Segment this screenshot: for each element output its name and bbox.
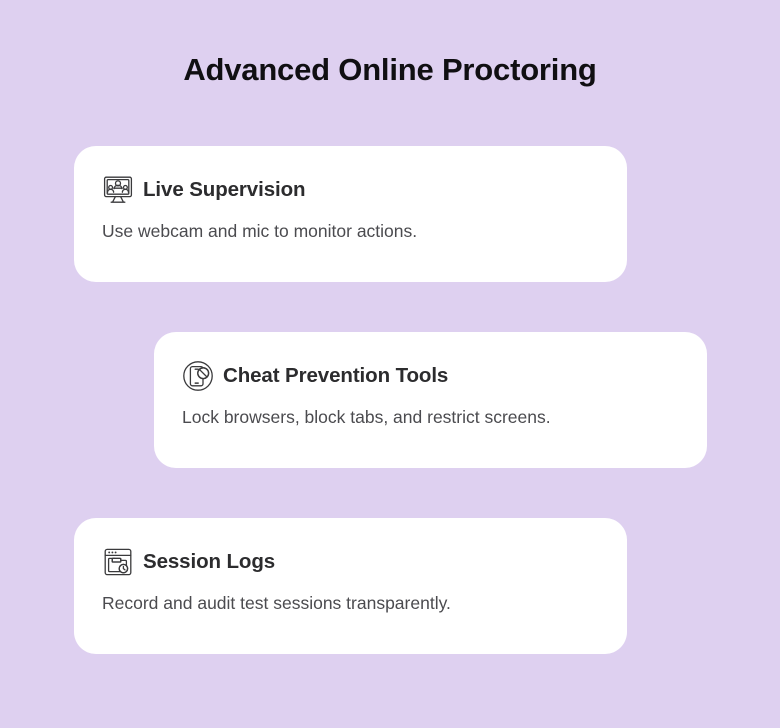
feature-card-live-supervision[interactable]: Live Supervision Use webcam and mic to m…	[74, 146, 627, 282]
card-description: Use webcam and mic to monitor actions.	[102, 220, 417, 244]
page-title: Advanced Online Proctoring	[0, 52, 780, 88]
feature-card-session-logs[interactable]: Session Logs Record and audit test sessi…	[74, 518, 627, 654]
video-monitor-supervision-icon	[102, 174, 134, 206]
card-title: Session Logs	[143, 552, 275, 573]
card-header: Live Supervision	[102, 174, 305, 206]
card-header: Cheat Prevention Tools	[182, 360, 448, 392]
card-title: Live Supervision	[143, 180, 305, 201]
card-description: Lock browsers, block tabs, and restrict …	[182, 406, 551, 430]
card-header: Session Logs	[102, 546, 275, 578]
browser-folder-clock-icon	[102, 546, 134, 578]
feature-card-cheat-prevention-tools[interactable]: Cheat Prevention Tools Lock browsers, bl…	[154, 332, 707, 468]
proctoring-feature-page: Advanced Online Proctoring Li	[0, 0, 780, 728]
card-title: Cheat Prevention Tools	[223, 366, 448, 387]
card-description: Record and audit test sessions transpare…	[102, 592, 451, 616]
phone-prohibited-icon	[182, 360, 214, 392]
